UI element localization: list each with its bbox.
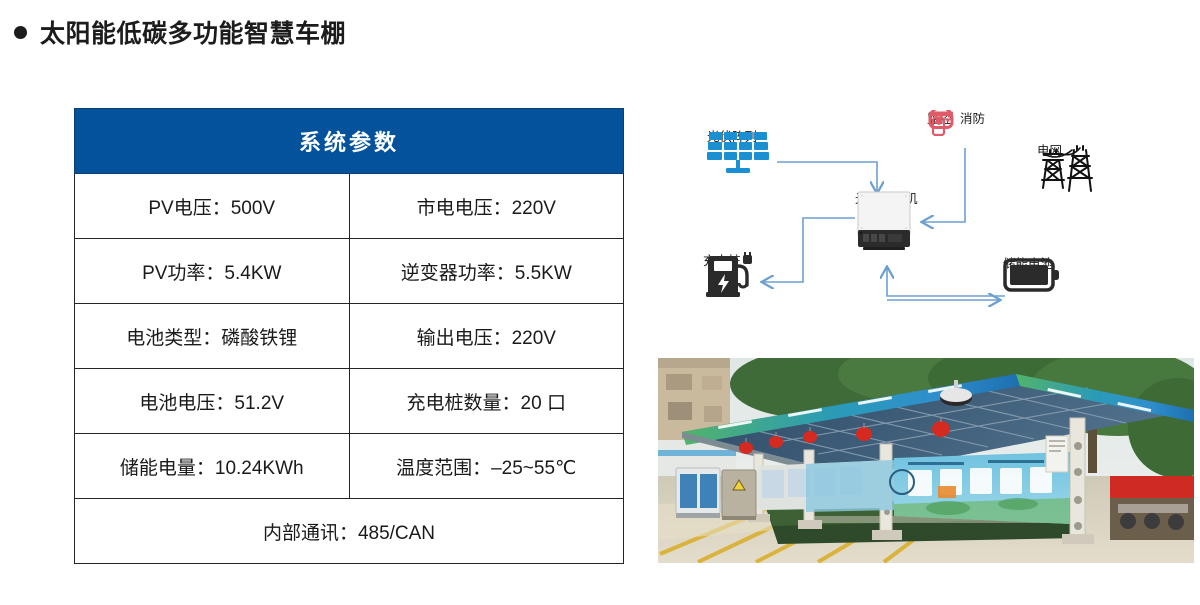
spec-cell-internal-comm: 内部通讯：485/CAN [75,499,624,564]
table-row: 内部通讯：485/CAN [75,499,624,564]
table-header-title: 系统参数 [75,109,624,174]
node-storage-battery: 储能电池 [1003,255,1053,272]
spec-cell-inverter-power: 逆变器功率：5.5KW [349,239,624,304]
spec-cell-battery-voltage: 电池电压：51.2V [75,369,350,434]
page-title: 太阳能低碳多功能智慧车棚 [40,14,346,50]
node-pv-array: 光伏阵列 [707,128,757,145]
node-label-fire: 消防 [960,113,985,127]
spec-cell-pv-power: PV功率：5.4KW [75,239,350,304]
node-sensors-group: 监控 消防 [927,110,985,127]
node-charging-pile: 充电桩 [703,252,741,269]
energy-flow-diagram: 光伏阵列 [655,100,1195,350]
bullet-dot-icon [14,26,27,39]
spec-cell-battery-type: 电池类型：磷酸铁锂 [75,304,350,369]
spec-cell-output-voltage: 输出电压：220V [349,304,624,369]
table-header-row: 系统参数 [75,109,624,174]
table-row: 储能电量：10.24KWh 温度范围：–25~55℃ [75,434,624,499]
page-title-row: 太阳能低碳多功能智慧车棚 [14,14,346,50]
system-parameters-table: 系统参数 PV电压：500V 市电电压：220V PV功率：5.4KW 逆变器功… [74,108,624,564]
table-row: PV电压：500V 市电电压：220V [75,174,624,239]
table-row: 电池类型：磷酸铁锂 输出电压：220V [75,304,624,369]
table-row: PV功率：5.4KW 逆变器功率：5.5KW [75,239,624,304]
spec-cell-temperature-range: 温度范围：–25~55℃ [349,434,624,499]
table-row: 电池电压：51.2V 充电桩数量：20 口 [75,369,624,434]
spec-cell-mains-voltage: 市电电压：220V [349,174,624,239]
carport-photo [658,358,1194,563]
node-power-grid: 电网 [1037,142,1062,159]
spec-cell-charger-count: 充电桩数量：20 口 [349,369,624,434]
spec-cell-pv-voltage: PV电压：500V [75,174,350,239]
carport-photo-image [658,358,1194,563]
node-hybrid-inverter: 光储一体机 [855,190,918,207]
spec-cell-storage-capacity: 储能电量：10.24KWh [75,434,350,499]
